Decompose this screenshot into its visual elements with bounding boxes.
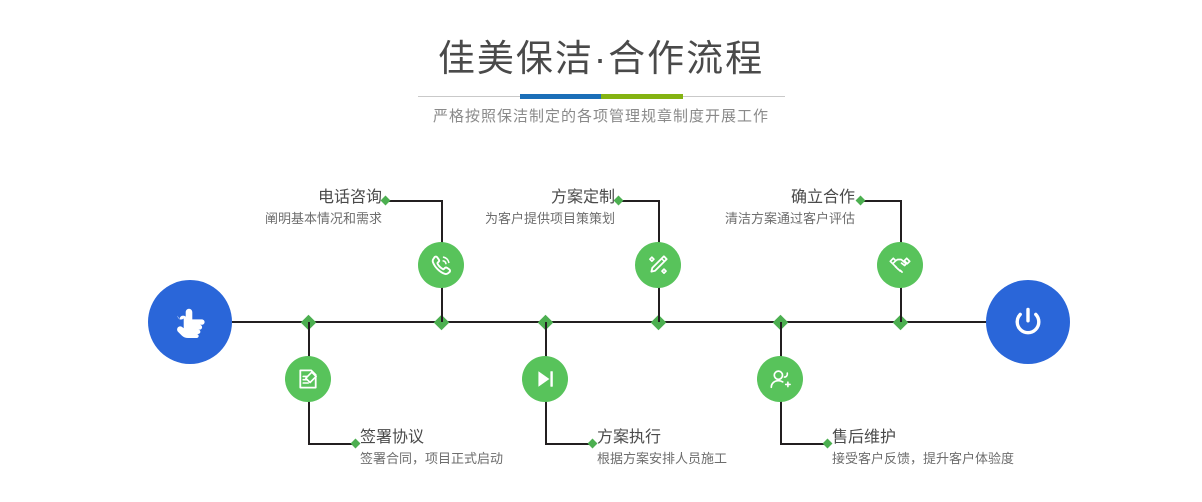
step-1-dot [381,196,391,206]
step-4-icon-badge[interactable] [522,356,568,402]
pointing-finger-icon [167,299,213,345]
phone-call-icon [428,252,454,278]
step-5-dot [856,196,866,206]
step-5-subtitle: 清洁方案通过客户评估 [630,210,855,228]
step-3-title: 方案定制 [390,188,615,208]
step-1-icon-badge[interactable] [418,242,464,288]
step-3-icon-badge[interactable] [635,242,681,288]
step-1-label: 电话咨询 阐明基本情况和需求 [150,188,382,228]
step-6-title: 售后维护 [832,428,1112,448]
step-6-subtitle: 接受客户反馈，提升客户体验度 [832,450,1112,468]
step-6-arm [780,443,828,445]
step-4-subtitle: 根据方案安排人员施工 [597,450,857,468]
customer-service-add-icon [767,366,793,392]
play-execute-icon [532,366,558,392]
step-2-arm [308,443,356,445]
document-sign-icon [295,366,321,392]
step-4-label: 方案执行 根据方案安排人员施工 [597,428,857,468]
power-icon [1005,299,1051,345]
step-5-arm [862,200,902,202]
flow-start-node[interactable] [148,280,232,364]
timeline-main-line [232,321,990,323]
step-2-label: 签署协议 签署合同，项目正式启动 [360,428,620,468]
process-flow-diagram: 电话咨询 阐明基本情况和需求 签署协议 签署合同， [0,0,1202,502]
step-2-title: 签署协议 [360,428,620,448]
flow-end-node[interactable] [986,280,1070,364]
step-2-dot [351,439,361,449]
pencil-design-icon [645,252,671,278]
step-5-icon-badge[interactable] [877,242,923,288]
step-4-arm [545,443,593,445]
step-5-label: 确立合作 清洁方案通过客户评估 [630,188,855,228]
handshake-icon [887,252,913,278]
step-3-label: 方案定制 为客户提供项目策策划 [390,188,615,228]
step-2-icon-badge[interactable] [285,356,331,402]
step-4-title: 方案执行 [597,428,857,448]
step-1-subtitle: 阐明基本情况和需求 [150,210,382,228]
step-6-icon-badge[interactable] [757,356,803,402]
step-3-subtitle: 为客户提供项目策策划 [390,210,615,228]
step-2-subtitle: 签署合同，项目正式启动 [360,450,620,468]
step-3-dot [614,196,624,206]
step-5-title: 确立合作 [630,188,855,208]
step-1-title: 电话咨询 [150,188,382,208]
infographic-canvas: 佳美保洁·合作流程 严格按照保洁制定的各项管理规章制度开展工作 [0,0,1202,502]
step-6-label: 售后维护 接受客户反馈，提升客户体验度 [832,428,1112,468]
